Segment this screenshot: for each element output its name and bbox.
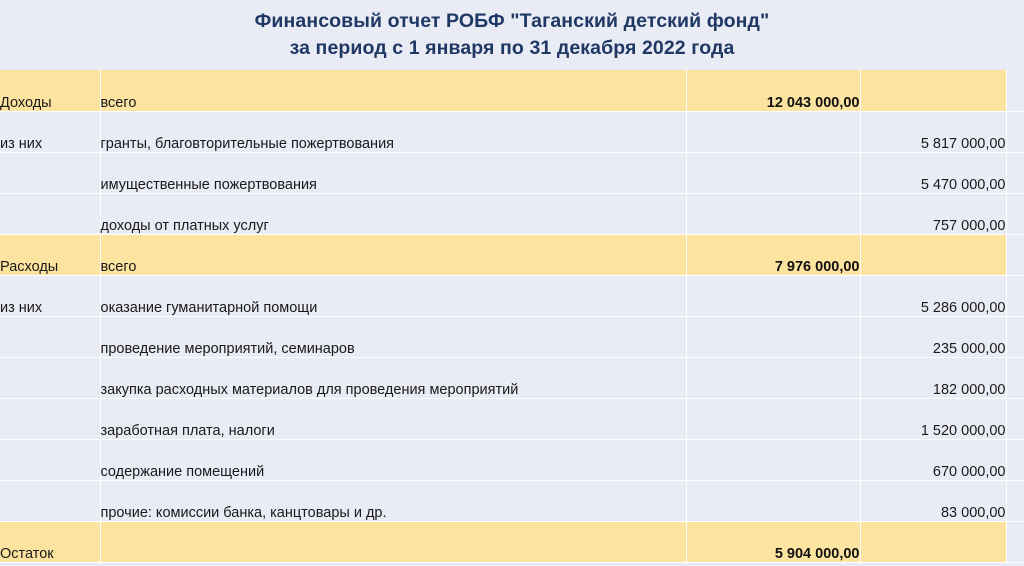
- row-category: [0, 439, 100, 480]
- row-trailing-cell: [1006, 152, 1024, 193]
- row-description: содержание помещений: [100, 439, 686, 480]
- report-title: Финансовый отчет РОБФ "Таганский детский…: [0, 0, 1024, 70]
- row-amount: 757 000,00: [860, 193, 1006, 234]
- row-total-amount: 12 043 000,00: [686, 70, 860, 111]
- table-row: прочие: комиссии банка, канцтовары и др.…: [0, 480, 1024, 521]
- row-trailing-cell: [1006, 521, 1024, 562]
- row-total-amount: 5 904 000,00: [686, 521, 860, 562]
- table-row: заработная плата, налоги 1 520 000,00: [0, 398, 1024, 439]
- row-trailing-cell: [1006, 480, 1024, 521]
- row-description: оказание гуманитарной помощи: [100, 275, 686, 316]
- row-amount: [860, 70, 1006, 111]
- row-trailing-cell: [1006, 70, 1024, 111]
- table-row: имущественные пожертвования 5 470 000,00: [0, 152, 1024, 193]
- table-row: из них оказание гуманитарной помощи 5 28…: [0, 275, 1024, 316]
- row-total-amount: [686, 111, 860, 152]
- row-category: Доходы: [0, 70, 100, 111]
- row-total-amount: [686, 357, 860, 398]
- row-description: гранты, благовторительные пожертвования: [100, 111, 686, 152]
- row-trailing-cell: [1006, 357, 1024, 398]
- row-category: [0, 316, 100, 357]
- row-amount: 5 470 000,00: [860, 152, 1006, 193]
- row-amount: 235 000,00: [860, 316, 1006, 357]
- row-description: заработная плата, налоги: [100, 398, 686, 439]
- table-row: закупка расходных материалов для проведе…: [0, 357, 1024, 398]
- row-category: [0, 152, 100, 193]
- row-description: закупка расходных материалов для проведе…: [100, 357, 686, 398]
- row-trailing-cell: [1006, 234, 1024, 275]
- row-description: имущественные пожертвования: [100, 152, 686, 193]
- row-total-amount: 7 976 000,00: [686, 234, 860, 275]
- row-category: [0, 357, 100, 398]
- row-total-amount: [686, 152, 860, 193]
- row-category: Расходы: [0, 234, 100, 275]
- table-row: содержание помещений 670 000,00: [0, 439, 1024, 480]
- row-amount: 83 000,00: [860, 480, 1006, 521]
- row-description: всего: [100, 70, 686, 111]
- row-description: проведение мероприятий, семинаров: [100, 316, 686, 357]
- row-total-amount: [686, 275, 860, 316]
- row-total-amount: [686, 439, 860, 480]
- row-category: Остаток: [0, 521, 100, 562]
- table-row: Доходы всего 12 043 000,00: [0, 70, 1024, 111]
- row-total-amount: [686, 193, 860, 234]
- row-trailing-cell: [1006, 275, 1024, 316]
- row-amount: [860, 234, 1006, 275]
- row-description: [100, 521, 686, 562]
- row-description: доходы от платных услуг: [100, 193, 686, 234]
- row-amount: 1 520 000,00: [860, 398, 1006, 439]
- row-total-amount: [686, 398, 860, 439]
- report-title-line-2: за период с 1 января по 31 декабря 2022 …: [290, 35, 735, 62]
- row-description: всего: [100, 234, 686, 275]
- report-title-line-1: Финансовый отчет РОБФ "Таганский детский…: [255, 8, 770, 35]
- row-trailing-cell: [1006, 398, 1024, 439]
- table-row: Расходы всего 7 976 000,00: [0, 234, 1024, 275]
- row-amount: 5 817 000,00: [860, 111, 1006, 152]
- financial-report-page: Финансовый отчет РОБФ "Таганский детский…: [0, 0, 1024, 566]
- financial-report-table: Доходы всего 12 043 000,00 из них гранты…: [0, 70, 1024, 563]
- row-description: прочие: комиссии банка, канцтовары и др.: [100, 480, 686, 521]
- row-category: из них: [0, 275, 100, 316]
- row-total-amount: [686, 316, 860, 357]
- report-table-body: Доходы всего 12 043 000,00 из них гранты…: [0, 70, 1024, 562]
- row-trailing-cell: [1006, 439, 1024, 480]
- table-row: доходы от платных услуг 757 000,00: [0, 193, 1024, 234]
- row-amount: [860, 521, 1006, 562]
- row-amount: 5 286 000,00: [860, 275, 1006, 316]
- row-category: [0, 193, 100, 234]
- row-category: из них: [0, 111, 100, 152]
- row-category: [0, 398, 100, 439]
- row-amount: 182 000,00: [860, 357, 1006, 398]
- row-total-amount: [686, 480, 860, 521]
- row-trailing-cell: [1006, 316, 1024, 357]
- table-row: Остаток 5 904 000,00: [0, 521, 1024, 562]
- row-category: [0, 480, 100, 521]
- row-trailing-cell: [1006, 111, 1024, 152]
- table-row: проведение мероприятий, семинаров 235 00…: [0, 316, 1024, 357]
- row-amount: 670 000,00: [860, 439, 1006, 480]
- table-row: из них гранты, благовторительные пожертв…: [0, 111, 1024, 152]
- row-trailing-cell: [1006, 193, 1024, 234]
